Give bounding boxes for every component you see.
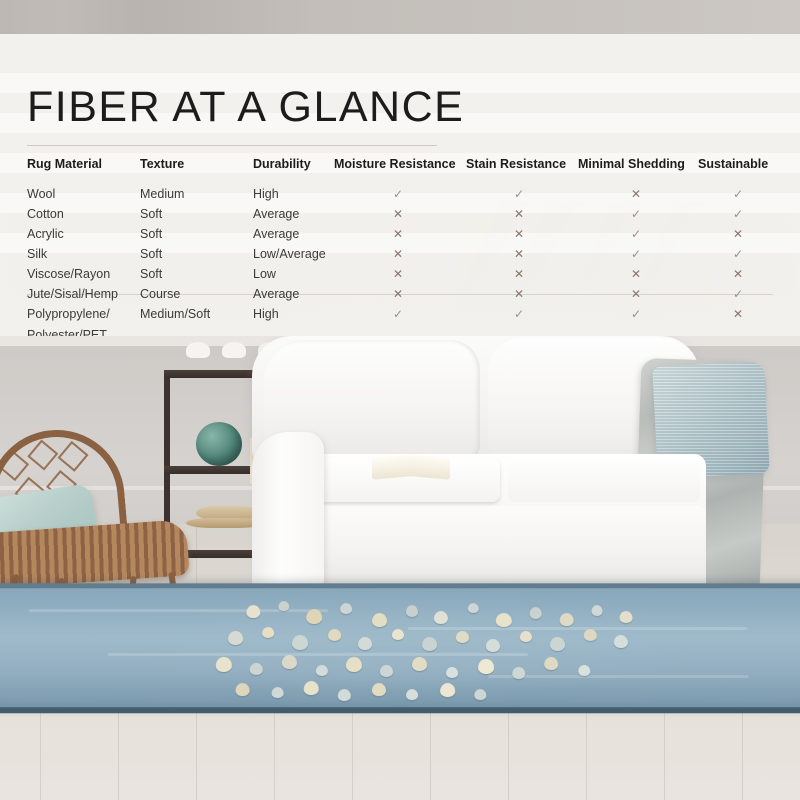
sofa-seat-cushion-right	[508, 456, 700, 502]
cell-durability: Average	[253, 204, 299, 224]
sofa-base-skirt	[266, 506, 706, 594]
column-header-stain-resistance: Stain Resistance	[466, 152, 566, 177]
cell-durability: Average	[253, 224, 299, 244]
column-header-sustainable: Sustainable	[698, 152, 768, 177]
cell-durability: Low	[253, 264, 276, 284]
fiber-table: Rug Material Texture Durability Moisture…	[0, 152, 800, 177]
table-row: Silk Soft Low/Average ✕ ✕ ✓ ✓	[0, 244, 800, 264]
cell-durability: Average	[253, 284, 299, 304]
top-accent-band	[0, 0, 800, 34]
cell-texture: Soft	[140, 224, 162, 244]
fiber-table-panel: FIBER AT A GLANCE Rug Material Texture D…	[0, 34, 800, 336]
wall-sconce-center	[222, 342, 246, 358]
column-header-moisture-resistance: Moisture Resistance	[334, 152, 456, 177]
page-title: FIBER AT A GLANCE	[27, 82, 464, 132]
cell-durability: High	[253, 184, 279, 204]
table-row: Jute/Sisal/Hemp Course Average ✕ ✕ ✕ ✓	[0, 284, 800, 304]
table-row: Viscose/Rayon Soft Low ✕ ✕ ✕ ✕	[0, 264, 800, 284]
cell-material: Silk	[27, 244, 47, 264]
cell-material: Viscose/Rayon	[27, 264, 110, 284]
cell-texture: Medium	[140, 184, 184, 204]
column-header-minimal-shedding: Minimal Shedding	[578, 152, 685, 177]
column-header-texture: Texture	[140, 152, 184, 177]
cell-material: Polypropylene/	[27, 304, 110, 324]
sofa-left-arm	[252, 432, 324, 597]
area-rug	[0, 583, 800, 713]
table-row: Wool Medium High ✓ ✓ ✕ ✓	[0, 184, 800, 204]
column-header-rug-material: Rug Material	[27, 152, 102, 177]
open-book	[372, 456, 450, 478]
cell-durability: Low/Average	[253, 244, 326, 264]
cell-material: Jute/Sisal/Hemp	[27, 284, 118, 304]
cell-durability: High	[253, 304, 279, 324]
table-row: Polypropylene/ Medium/Soft High ✓ ✓ ✓ ✕	[0, 304, 800, 324]
table-row-continuation: Polyester/PET	[0, 325, 800, 336]
column-header-durability: Durability	[253, 152, 311, 177]
cell-material-line2: Polyester/PET	[27, 325, 107, 336]
cell-texture: Soft	[140, 244, 162, 264]
table-header-row: Rug Material Texture Durability Moisture…	[0, 152, 800, 177]
title-divider	[27, 145, 437, 146]
decorative-glass-globe	[196, 422, 242, 466]
cell-texture: Medium/Soft	[140, 304, 210, 324]
infographic-page: FIBER AT A GLANCE Rug Material Texture D…	[0, 0, 800, 800]
cell-texture: Soft	[140, 264, 162, 284]
table-row: Acrylic Soft Average ✕ ✕ ✓ ✕	[0, 224, 800, 244]
room-photograph: ANIMAL RUG BLEND 80% Wool 20% Viscose	[0, 336, 800, 800]
cell-texture: Soft	[140, 204, 162, 224]
cell-texture: Course	[140, 284, 180, 304]
cell-material: Wool	[27, 184, 55, 204]
wall-sconce-left	[186, 342, 210, 358]
cell-material: Acrylic	[27, 224, 64, 244]
cell-material: Cotton	[27, 204, 64, 224]
table-row: Cotton Soft Average ✕ ✕ ✓ ✓	[0, 204, 800, 224]
